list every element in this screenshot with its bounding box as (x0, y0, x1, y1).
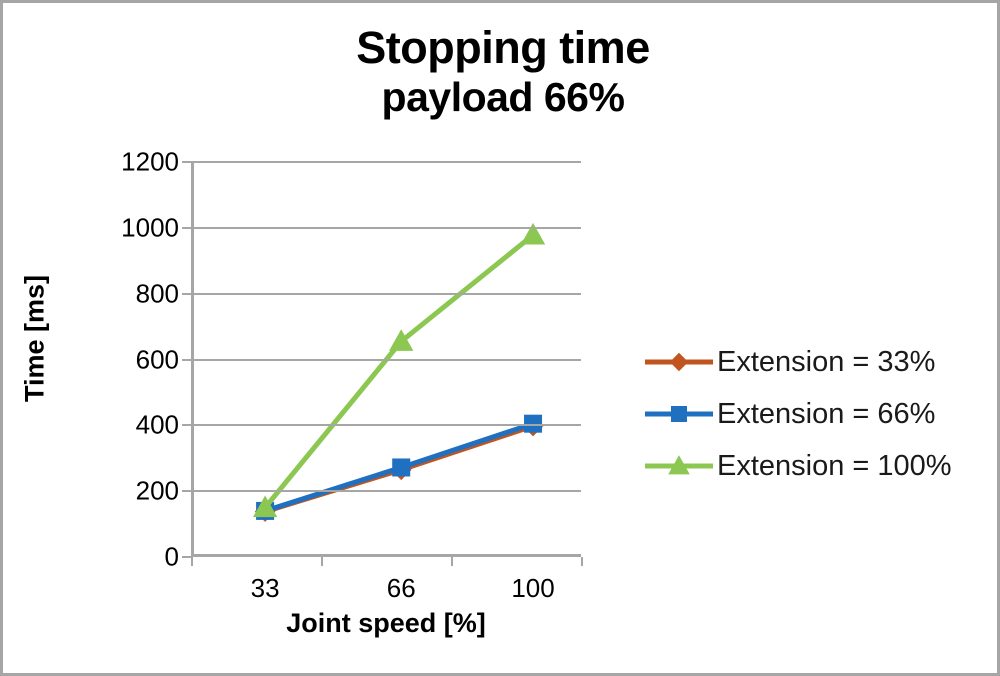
gridline (191, 161, 581, 163)
chart-legend: Extension = 33%Extension = 66%Extension … (643, 336, 993, 492)
legend-item[interactable]: Extension = 100% (643, 440, 993, 492)
y-axis-title: Time [ms] (20, 259, 51, 419)
legend-diamond-icon (643, 347, 715, 377)
gridline (191, 359, 581, 361)
chart-subtitle: payload 66% (3, 70, 1000, 125)
gridline (191, 227, 581, 229)
plot-area (191, 162, 581, 557)
y-tick-label: 200 (136, 476, 179, 507)
y-tick-mark (182, 227, 191, 229)
legend-label: Extension = 66% (717, 398, 935, 431)
x-axis-title: Joint speed [%] (191, 608, 581, 639)
y-tick-mark (182, 424, 191, 426)
y-tick-mark (182, 293, 191, 295)
x-tick-label: 33 (251, 573, 280, 604)
y-tick-label: 1200 (121, 147, 179, 178)
chart-title: Stopping time (3, 25, 1000, 70)
y-axis-tick-labels: 120010008006004002000 (81, 162, 179, 557)
legend-triangle-icon (643, 451, 715, 481)
y-tick-mark (182, 161, 191, 163)
square-marker (671, 406, 687, 422)
legend-square-icon (643, 399, 715, 429)
y-tick-label: 400 (136, 410, 179, 441)
legend-item[interactable]: Extension = 66% (643, 388, 993, 440)
y-tick-label: 600 (136, 344, 179, 375)
x-tick-mark (581, 557, 583, 566)
square-marker (392, 458, 410, 476)
x-tick-label: 66 (387, 573, 416, 604)
chart-title-block: Stopping time payload 66% (3, 25, 1000, 125)
y-tick-label: 1000 (121, 212, 179, 243)
x-axis-tick-labels: 3366100 (191, 559, 581, 599)
diamond-marker (670, 353, 688, 371)
legend-label: Extension = 100% (717, 450, 952, 483)
y-tick-label: 800 (136, 278, 179, 309)
legend-item[interactable]: Extension = 33% (643, 336, 993, 388)
legend-label: Extension = 33% (717, 346, 935, 379)
chart-container: Stopping time payload 66% 12001000800600… (0, 0, 1000, 676)
gridline (191, 490, 581, 492)
y-tick-mark (182, 359, 191, 361)
y-tick-mark (182, 556, 191, 558)
gridline (191, 293, 581, 295)
gridline (191, 424, 581, 426)
y-tick-mark (182, 490, 191, 492)
x-tick-label: 100 (511, 573, 554, 604)
y-tick-label: 0 (165, 542, 179, 573)
